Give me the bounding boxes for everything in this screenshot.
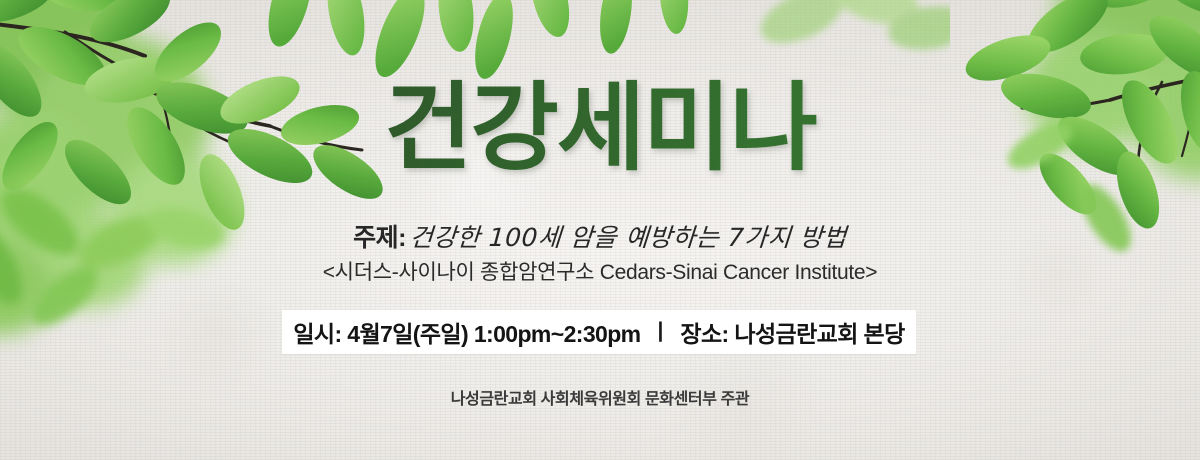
- info-separator: |: [658, 319, 664, 343]
- subject-text: 건강한 100세 암을 예방하는 7가지 방법: [409, 218, 848, 254]
- title-block: 건강세미나: [0, 78, 1200, 179]
- page-title: 건강세미나: [0, 78, 1200, 179]
- event-info-bar: 일시: 4월7일(주일) 1:00pm~2:30pm | 장소: 나성금란교회 …: [282, 310, 916, 354]
- event-datetime: 일시: 4월7일(주일) 1:00pm~2:30pm: [293, 315, 640, 349]
- subject-line: 주제:건강한 100세 암을 예방하는 7가지 방법: [0, 218, 1200, 254]
- organizer-footer: 나성금란교회 사회체육위원회 문화센터부 주관: [0, 385, 1200, 409]
- subject-label: 주제:: [353, 224, 406, 252]
- event-location: 장소: 나성금란교회 본당: [680, 315, 904, 349]
- seminar-banner: 건강세미나 주제:건강한 100세 암을 예방하는 7가지 방법 <시더스-사이…: [0, 0, 1200, 460]
- institute-line: <시더스-사이나이 종합암연구소 Cedars-Sinai Cancer Ins…: [0, 256, 1200, 286]
